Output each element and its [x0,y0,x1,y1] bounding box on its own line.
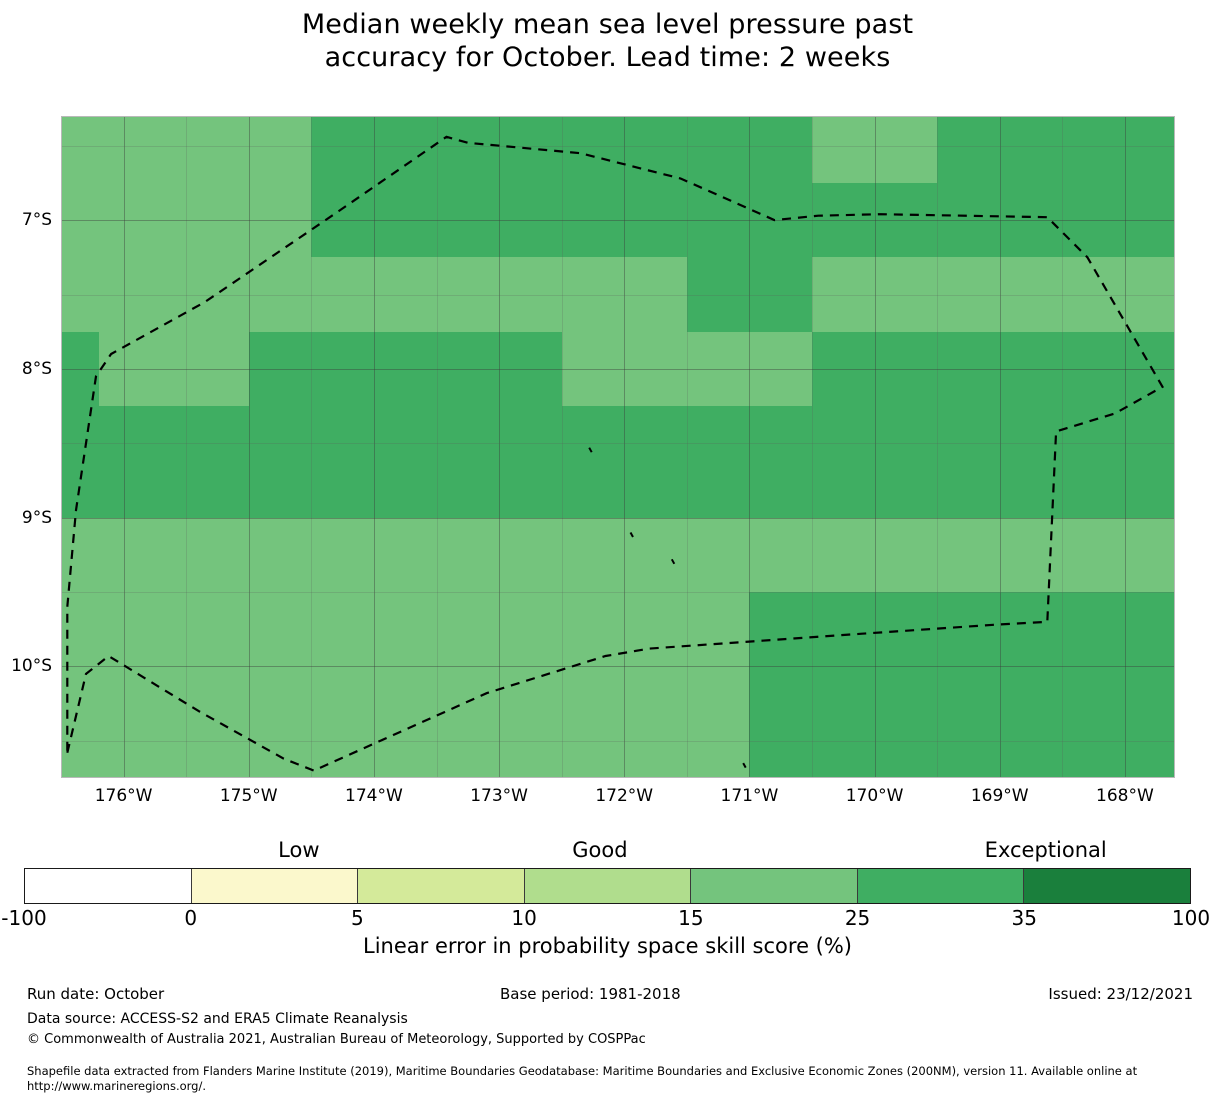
heatmap-cell [562,518,625,592]
heatmap-cell [61,332,99,406]
y-axis-tick-label: 7°S [0,210,52,230]
heatmap-cell [249,116,312,332]
colorbar-legend: LowGoodExceptional -1000510152535100 Lin… [0,838,1215,958]
x-axis-tick-label: 172°W [564,786,684,806]
footer-top-row: Run date: October Base period: 1981-2018… [0,985,1215,1007]
colorbar-swatch[interactable] [25,869,192,903]
colorbar-swatch[interactable] [691,869,858,903]
colorbar-swatch[interactable] [1024,869,1190,903]
shapefile-credit-line-1: Shapefile data extracted from Flanders M… [27,1064,1137,1079]
x-axis-tick-label: 175°W [189,786,309,806]
heatmap-cell [99,332,249,406]
title-line-2: accuracy for October. Lead time: 2 weeks [0,41,1215,74]
colorbar-tick-label: 5 [297,906,417,930]
x-axis-tick-label: 174°W [314,786,434,806]
heatmap-cell [812,183,937,257]
x-axis-tick-label: 168°W [1065,786,1185,806]
page-title: Median weekly mean sea level pressure pa… [0,8,1215,74]
colorbar-swatch[interactable] [358,869,525,903]
heatmap-cell [249,332,562,406]
heatmap-cell [812,116,937,183]
heatmap-cell [61,116,249,257]
x-axis-tick-label: 176°W [64,786,184,806]
issued-date-text: Issued: 23/12/2021 [1048,985,1193,1003]
heatmap-cell [311,116,561,257]
heatmap-cell [61,592,749,778]
colorbar-swatch[interactable] [192,869,359,903]
heatmap-cells [61,116,1175,778]
heatmap-cell [562,257,687,331]
heatmap-cell [687,257,812,331]
figure-root: Median weekly mean sea level pressure pa… [0,0,1215,1095]
heatmap-cell [562,116,812,257]
heatmap-cell [687,518,812,592]
colorbar-tick-label: 0 [131,906,251,930]
colorbar-tick-label: 100 [1131,906,1215,930]
colorbar-tick-label: 25 [798,906,918,930]
heatmap-cell [937,116,1175,257]
run-date-text: Run date: October [27,985,164,1003]
colorbar-category-labels: LowGoodExceptional [0,838,1215,864]
x-axis-tick-label: 171°W [689,786,809,806]
y-axis-tick-label: 8°S [0,359,52,379]
colorbar-tick-label: -100 [0,906,84,930]
shapefile-credit-line-2: http://www.marineregions.org/. [27,1079,206,1094]
data-source-text: Data source: ACCESS-S2 and ERA5 Climate … [27,1011,408,1027]
heatmap-cell [749,592,1175,778]
colorbar-tick-label: 35 [964,906,1084,930]
colorbar-swatch[interactable] [858,869,1025,903]
x-axis-tick-label: 173°W [439,786,559,806]
colorbar-swatches[interactable] [24,868,1191,904]
colorbar-axis-label: Linear error in probability space skill … [0,934,1215,958]
x-axis-tick-label: 169°W [940,786,1060,806]
x-axis-tick-label: 170°W [815,786,935,806]
colorbar-category-label: Good [490,838,710,862]
colorbar-category-label: Exceptional [936,838,1156,862]
colorbar-tick-labels: -1000510152535100 [0,906,1215,932]
colorbar-tick-label: 10 [464,906,584,930]
title-line-1: Median weekly mean sea level pressure pa… [0,8,1215,41]
map-plot-area[interactable] [61,116,1175,778]
footer: Run date: October Base period: 1981-2018… [0,985,1215,1007]
base-period-text: Base period: 1981-2018 [500,985,681,1003]
y-axis-tick-label: 9°S [0,508,52,528]
colorbar-category-label: Low [189,838,409,862]
heatmap-cell [61,406,1175,518]
heatmap-cell [61,257,99,331]
y-axis-tick-label: 10°S [0,656,52,676]
colorbar-tick-label: 15 [631,906,751,930]
colorbar-swatch[interactable] [525,869,692,903]
heatmap-cell [812,332,1175,406]
heatmap-cell [562,332,625,406]
copyright-text: © Commonwealth of Australia 2021, Austra… [27,1032,646,1047]
heatmap-cell [624,332,812,406]
